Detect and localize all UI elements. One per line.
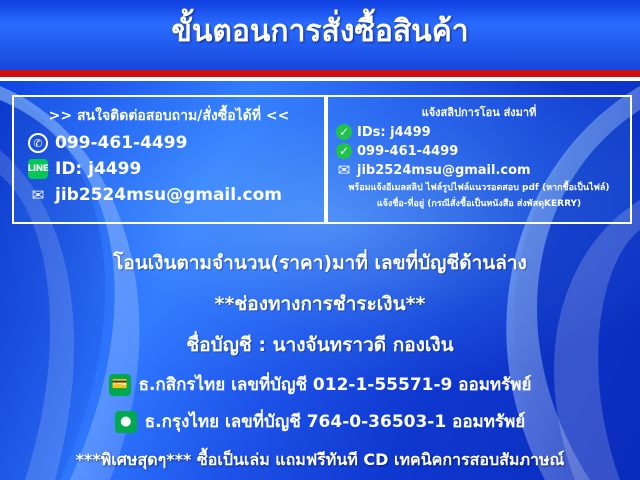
- ktb-account-text: ธ.กรุงไทย เลขที่บัญชี 764-0-36503-1 ออมท…: [145, 408, 525, 435]
- account-name: ชื่อบัญชี : นางจันทราวดี กองเงิน: [0, 330, 640, 360]
- kbank-icon: 💳: [109, 374, 131, 396]
- slip-panel-right: แจ้งสลิปการโอน ส่งมาที่ ✓ IDs: j4499 ✓ 0…: [326, 95, 632, 224]
- page-title: ขั้นตอนการสั่งซื้อสินค้า: [0, 8, 640, 55]
- slip-note-1: พร้อมแจ้งอีเมลสลิป ไฟล์รูปไฟล์แนวรอดสอบ …: [328, 182, 630, 194]
- check-icon: ✓: [336, 143, 352, 159]
- payment-block: โอนเงินตามจำนวน(ราคา)มาที่ เลขที่บัญชีด้…: [0, 248, 640, 445]
- slip-email-text: jib2524msu@gmail.com: [357, 163, 531, 178]
- kbank-account-text: ธ.กสิกรไทย เลขที่บัญชี 012-1-55571-9 ออม…: [139, 371, 532, 398]
- line-icon: LINE: [28, 159, 48, 179]
- mail-icon: ✉: [28, 185, 48, 205]
- contact-email-text: jib2524msu@gmail.com: [55, 185, 282, 205]
- payment-instruction: โอนเงินตามจำนวน(ราคา)มาที่ เลขที่บัญชีด้…: [0, 248, 640, 278]
- slip-note-2: แจ้งชื่อ-ที่อยู่ (กรณีสั่งชื้อเป็นหนังสื…: [328, 198, 630, 210]
- mail-icon: ✉: [336, 162, 352, 178]
- slip-row-line-id: ✓ IDs: j4499: [336, 124, 630, 140]
- phone-icon: ✆: [28, 133, 48, 153]
- slip-heading: แจ้งสลิปการโอน ส่งมาที่: [328, 103, 630, 121]
- contact-heading: >> สนใจติดต่อสอบถาม/สั่งซื้อได้ที่ <<: [14, 105, 324, 127]
- slip-line-id-text: IDs: j4499: [357, 125, 431, 140]
- bank-row-ktb: ● ธ.กรุงไทย เลขที่บัญชี 764-0-36503-1 ออ…: [0, 408, 640, 435]
- slip-row-phone: ✓ 099-461-4499: [336, 143, 630, 159]
- contact-row-phone: ✆ 099-461-4499: [28, 133, 324, 153]
- slip-phone-text: 099-461-4499: [357, 144, 458, 159]
- contact-line-id-text: ID: j4499: [55, 159, 141, 179]
- contact-panel-left: >> สนใจติดต่อสอบถาม/สั่งซื้อได้ที่ << ✆ …: [12, 95, 326, 224]
- contact-phone-text: 099-461-4499: [55, 133, 187, 153]
- bank-row-kbank: 💳 ธ.กสิกรไทย เลขที่บัญชี 012-1-55571-9 อ…: [0, 371, 640, 398]
- slip-row-email: ✉ jib2524msu@gmail.com: [336, 162, 630, 178]
- contact-row-email: ✉ jib2524msu@gmail.com: [28, 185, 324, 205]
- divider-red: [0, 70, 640, 77]
- poster-root: ขั้นตอนการสั่งซื้อสินค้า >> สนใจติดต่อสอ…: [0, 0, 640, 480]
- check-icon: ✓: [336, 124, 352, 140]
- promo-footer: ***พิเศษสุดๆ*** ซื้อเป็นเล่ม แถมฟรีทันที…: [0, 448, 640, 473]
- title-banner: ขั้นตอนการสั่งซื้อสินค้า: [0, 0, 640, 70]
- divider-white: [0, 77, 640, 81]
- contact-row-line: LINE ID: j4499: [28, 159, 324, 179]
- payment-channel-heading: **ช่องทางการชำระเงิน**: [0, 289, 640, 319]
- ktb-icon: ●: [115, 411, 137, 433]
